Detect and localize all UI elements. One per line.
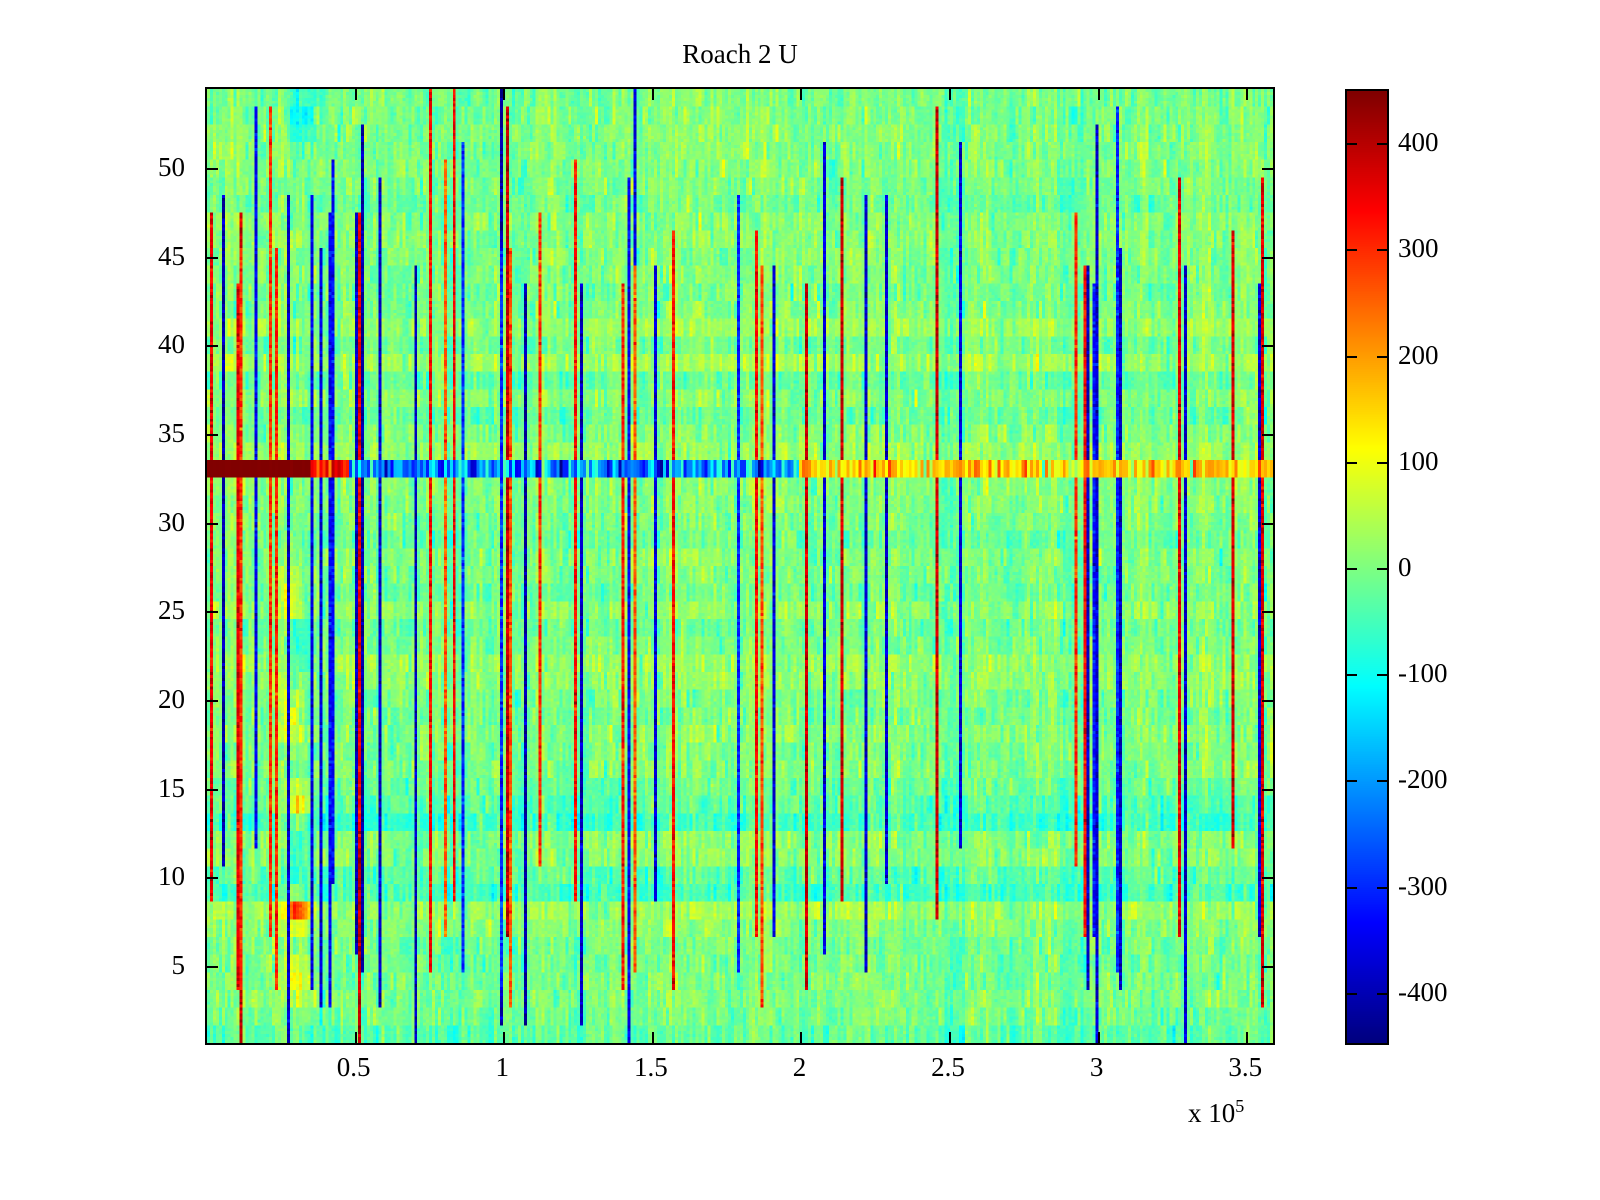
x-exponent-power: 5	[1235, 1096, 1244, 1116]
x-axis-tick-label: 2.5	[888, 1054, 1008, 1081]
x-axis-tick	[355, 89, 357, 100]
y-axis-tick	[207, 345, 218, 347]
y-axis-tick	[1262, 168, 1273, 170]
colorbar-gradient	[1347, 91, 1387, 1043]
y-axis-tick-label: 15	[105, 775, 185, 802]
colorbar-tick	[1347, 356, 1357, 358]
y-axis-tick	[207, 434, 218, 436]
colorbar-tick	[1377, 674, 1387, 676]
heatmap-image	[207, 89, 1273, 1043]
colorbar-tick	[1377, 249, 1387, 251]
y-axis-tick-label: 45	[105, 243, 185, 270]
x-axis-tick	[949, 89, 951, 100]
x-axis-tick-label: 2	[739, 1054, 859, 1081]
y-axis-tick	[1262, 257, 1273, 259]
x-axis-tick	[652, 89, 654, 100]
colorbar-tick	[1347, 780, 1357, 782]
y-axis-tick	[207, 877, 218, 879]
y-axis-tick-label: 10	[105, 863, 185, 890]
x-axis-tick	[1246, 1032, 1248, 1043]
colorbar-tick	[1377, 887, 1387, 889]
colorbar-tick	[1347, 462, 1357, 464]
y-axis-tick	[1262, 877, 1273, 879]
x-axis-tick	[652, 1032, 654, 1043]
colorbar-tick-label: -200	[1398, 766, 1448, 793]
x-axis-tick	[503, 89, 505, 100]
x-axis-tick-label: 3.5	[1185, 1054, 1305, 1081]
x-axis-tick	[800, 89, 802, 100]
y-axis-tick	[1262, 611, 1273, 613]
colorbar-tick-label: -300	[1398, 873, 1448, 900]
colorbar-tick	[1377, 462, 1387, 464]
colorbar-tick	[1347, 568, 1357, 570]
colorbar-tick-label: 0	[1398, 554, 1412, 581]
x-axis-tick	[355, 1032, 357, 1043]
x-axis-tick	[1246, 89, 1248, 100]
y-axis-tick	[1262, 700, 1273, 702]
y-axis-tick	[1262, 966, 1273, 968]
x-axis-exponent-label: x 105	[1188, 1100, 1244, 1127]
x-axis-tick	[1098, 89, 1100, 100]
colorbar-tick	[1347, 249, 1357, 251]
y-axis-tick-label: 40	[105, 331, 185, 358]
x-axis-tick	[503, 1032, 505, 1043]
y-axis-tick	[207, 611, 218, 613]
colorbar-tick	[1377, 568, 1387, 570]
y-axis-tick-label: 50	[105, 154, 185, 181]
colorbar-tick-label: -100	[1398, 660, 1448, 687]
y-axis-tick-label: 25	[105, 597, 185, 624]
x-axis-tick-label: 3	[1037, 1054, 1157, 1081]
x-axis-tick-label: 0.5	[294, 1054, 414, 1081]
x-exponent-base: x 10	[1188, 1098, 1235, 1128]
colorbar-tick	[1347, 143, 1357, 145]
y-axis-tick	[207, 257, 218, 259]
y-axis-tick	[1262, 434, 1273, 436]
colorbar-tick	[1347, 674, 1357, 676]
colorbar-tick-label: 100	[1398, 448, 1439, 475]
colorbar-tick	[1377, 780, 1387, 782]
x-axis-tick	[949, 1032, 951, 1043]
heatmap-axes[interactable]	[205, 87, 1275, 1045]
x-axis-tick-label: 1	[442, 1054, 562, 1081]
y-axis-tick	[207, 789, 218, 791]
y-axis-tick-label: 35	[105, 420, 185, 447]
colorbar-tick	[1347, 993, 1357, 995]
colorbar-tick	[1377, 993, 1387, 995]
colorbar-tick	[1377, 143, 1387, 145]
y-axis-tick	[207, 523, 218, 525]
x-axis-tick	[800, 1032, 802, 1043]
y-axis-tick	[207, 168, 218, 170]
colorbar-tick	[1377, 356, 1387, 358]
colorbar[interactable]	[1345, 89, 1389, 1045]
x-axis-tick-label: 1.5	[591, 1054, 711, 1081]
figure-canvas: Roach 2 U 51015202530354045500.511.522.5…	[0, 0, 1600, 1200]
colorbar-tick	[1347, 887, 1357, 889]
colorbar-tick-label: 200	[1398, 342, 1439, 369]
x-axis-tick	[1098, 1032, 1100, 1043]
y-axis-tick	[1262, 789, 1273, 791]
y-axis-tick-label: 20	[105, 686, 185, 713]
y-axis-tick	[207, 700, 218, 702]
y-axis-tick	[207, 966, 218, 968]
y-axis-tick-label: 5	[105, 952, 185, 979]
colorbar-tick-label: 300	[1398, 235, 1439, 262]
y-axis-tick	[1262, 523, 1273, 525]
colorbar-tick-label: 400	[1398, 129, 1439, 156]
colorbar-tick-label: -400	[1398, 979, 1448, 1006]
page-title: Roach 2 U	[0, 38, 1480, 70]
y-axis-tick	[1262, 345, 1273, 347]
y-axis-tick-label: 30	[105, 509, 185, 536]
